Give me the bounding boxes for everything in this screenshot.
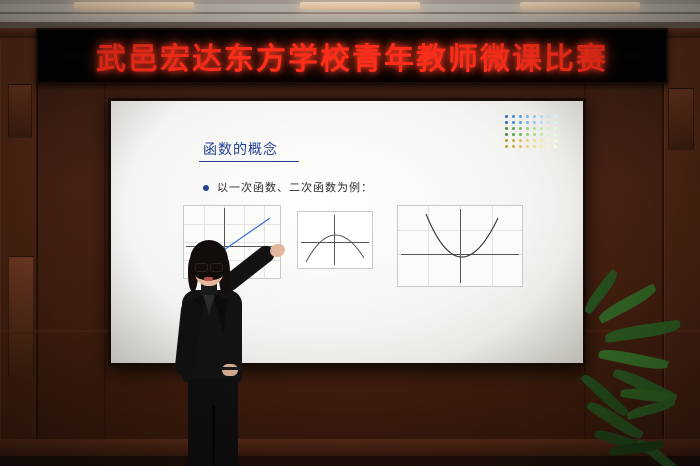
led-banner-text: 武邑宏达东方学校青年教师微课比赛 (96, 34, 608, 78)
laser-pointer (220, 367, 242, 370)
quadratic-curve (398, 206, 522, 286)
wall-fixture-left (8, 84, 32, 138)
presenter (170, 236, 290, 466)
ceiling (0, 0, 700, 30)
ceiling-seam (0, 12, 700, 14)
wall-seam (36, 38, 38, 458)
hair-top (190, 240, 228, 280)
slide-dot-grid-decoration (505, 115, 561, 155)
slide-title: 函数的概念 (203, 139, 278, 159)
photo-scene: 武邑宏达东方学校青年教师微课比赛 函数的概念 以一次函数、二次函数为例： (0, 0, 700, 466)
leg-separation (212, 406, 215, 466)
inset-function-graph (297, 211, 373, 269)
slide-bullet-icon (203, 185, 209, 191)
ceiling-light (520, 2, 640, 9)
slide-title-underline (199, 161, 299, 162)
glasses-icon (195, 263, 223, 271)
led-banner: 武邑宏达东方学校青年教师微课比赛 (36, 28, 668, 84)
quadratic-function-graph (397, 205, 523, 287)
lowered-hand (222, 364, 238, 376)
slide-bullet-text: 以一次函数、二次函数为例： (217, 179, 373, 195)
lips (204, 277, 213, 281)
ceiling-light (74, 2, 194, 9)
wall-fixture-right (668, 88, 694, 150)
inset-curve (298, 212, 372, 268)
wall-seam (104, 84, 106, 444)
potted-plant (550, 286, 700, 466)
ceiling-light (300, 2, 420, 9)
wall-column-left (8, 256, 34, 378)
